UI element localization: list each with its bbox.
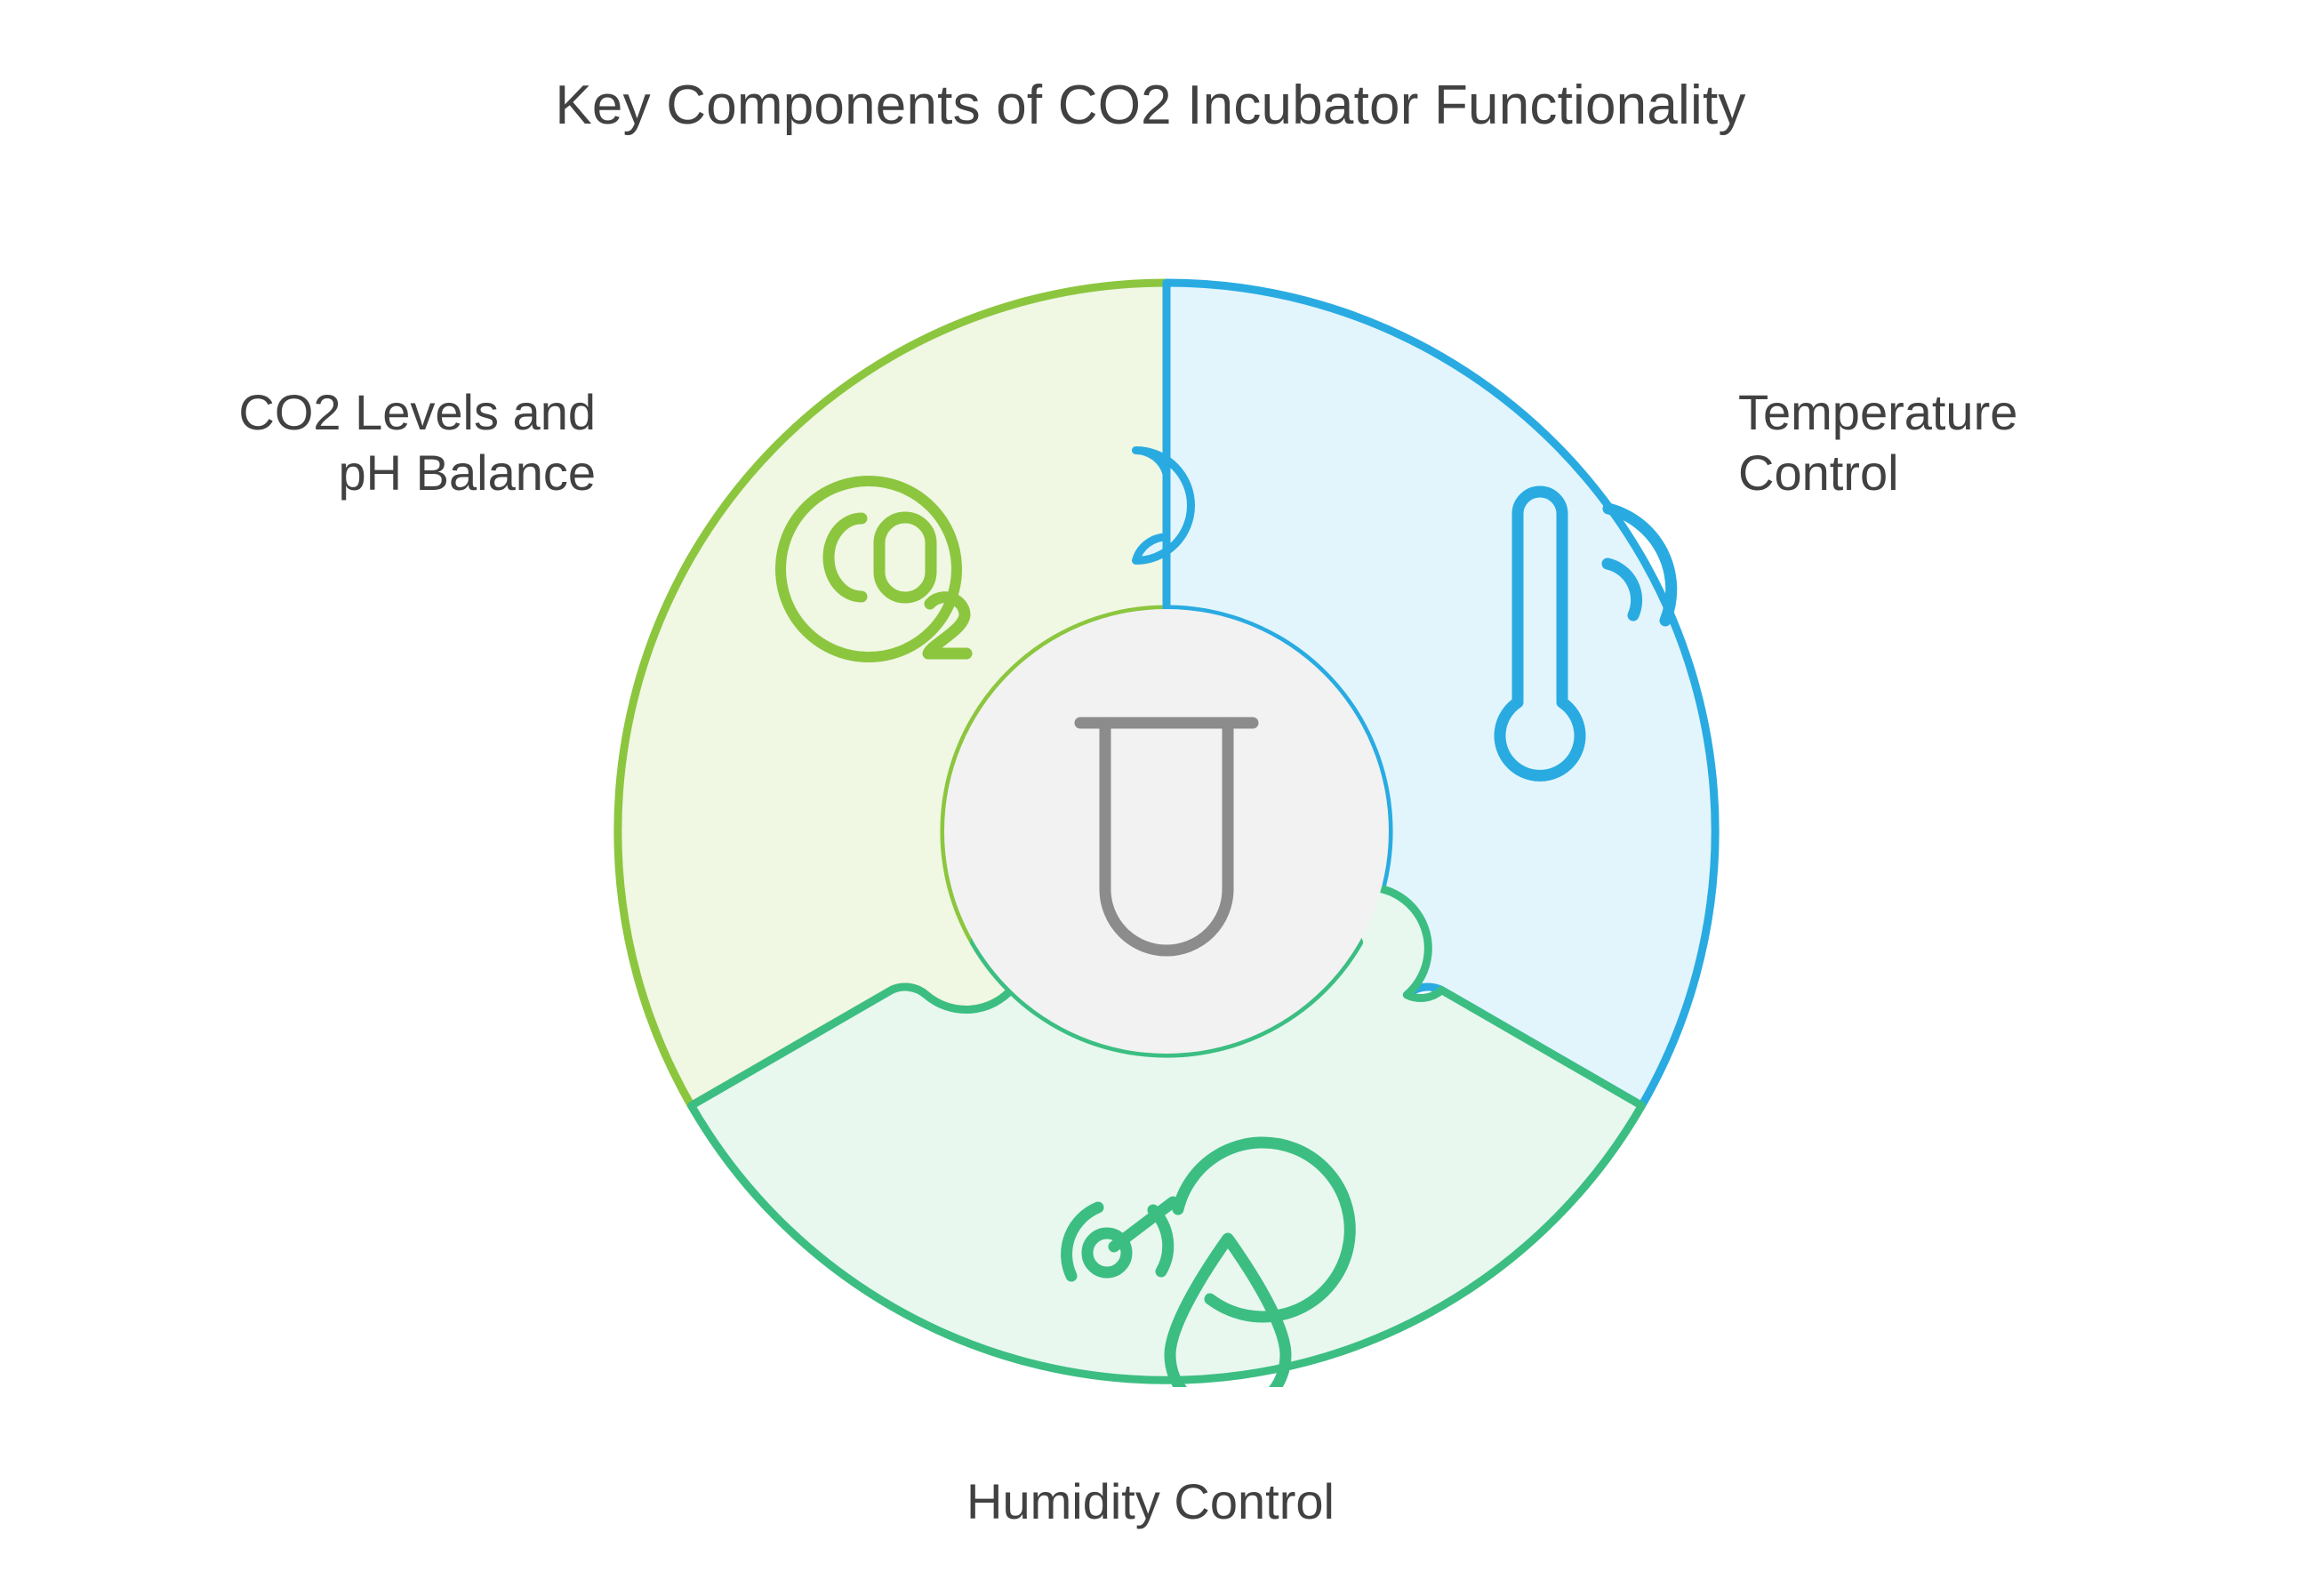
page-title: Key Components of CO2 Incubator Function… (0, 73, 2301, 139)
label-humidity-control: Humidity Control (0, 1472, 2301, 1532)
diagram-canvas: Key Components of CO2 Incubator Function… (0, 0, 2301, 1596)
center-hub-circle[interactable] (944, 609, 1389, 1054)
label-co2-levels-and-ph-balance: CO2 Levels and pH Balance (36, 382, 596, 504)
center-hub[interactable] (944, 609, 1389, 1054)
circular-puzzle-diagram (611, 276, 1722, 1387)
label-temperature-control: Temperature Control (1738, 382, 2272, 504)
